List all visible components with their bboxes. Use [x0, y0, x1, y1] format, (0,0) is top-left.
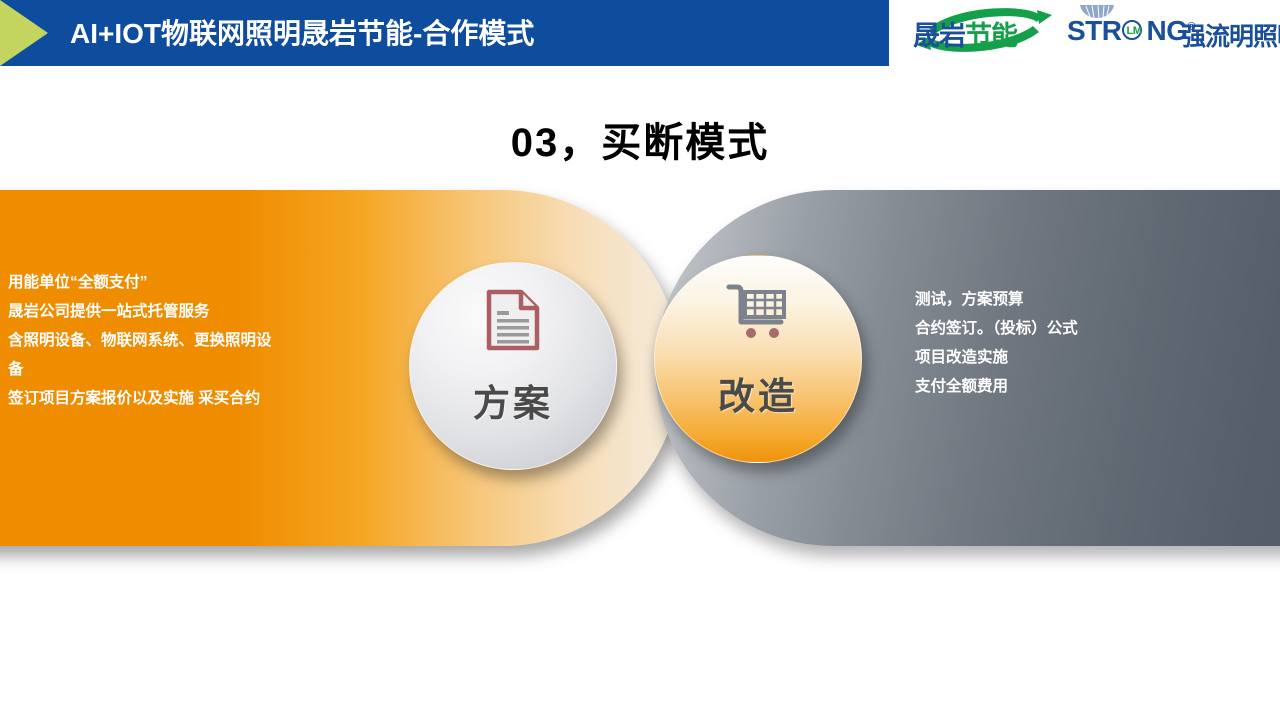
left-panel-text-block: 用能单位“全额支付” 晟岩公司提供一站式托管服务 含照明设备、物联网系统、更换照… — [8, 268, 348, 413]
brand-logo: 晟岩节能 STRLMNG® 强流明照明 — [886, 0, 1280, 66]
right-panel-text-block: 测试，方案预算 合约签订。（投标）公式 项目改造实施 支付全额费用 — [915, 285, 1255, 401]
plan-circle-label: 方案 — [410, 373, 616, 427]
left-panel-line: 签订项目方案报价以及实施 采买合约 — [8, 384, 348, 413]
document-icon — [485, 289, 541, 351]
logo-company-name: 晟岩节能 — [913, 14, 1017, 53]
logo-brand-text: STRLMNG® — [1067, 15, 1195, 47]
left-panel-line: 晟岩公司提供一站式托管服务 — [8, 297, 348, 326]
right-panel-line: 支付全额费用 — [915, 372, 1255, 401]
right-panel-line: 项目改造实施 — [915, 343, 1255, 372]
reform-circle-icon-wrap — [655, 282, 861, 347]
left-panel-line: 用能单位“全额支付” — [8, 268, 348, 297]
plan-circle[interactable]: 方案 — [409, 262, 617, 470]
page-title: 03，买断模式 — [0, 110, 1280, 168]
reform-circle[interactable]: 改造 — [654, 255, 862, 463]
logo-company-name-blue: 晟岩 — [913, 21, 965, 51]
logo-brand-part-1: STR — [1067, 15, 1122, 46]
left-panel-line: 备 — [8, 355, 348, 384]
plan-circle-icon-wrap — [410, 289, 616, 356]
left-panel-line: 含照明设备、物联网系统、更换照明设 — [8, 326, 348, 355]
header-title: AI+IOT物联网照明晟岩节能-合作模式 — [70, 12, 534, 52]
logo-company-name-green: 节能 — [965, 21, 1017, 51]
shopping-cart-icon — [726, 282, 790, 342]
slide-header: AI+IOT物联网照明晟岩节能-合作模式 晟岩节能 STRLMNG® 强流明照 — [0, 0, 1280, 66]
right-panel-line: 测试，方案预算 — [915, 285, 1255, 314]
logo-o-inner-text: LM — [1122, 20, 1147, 42]
reform-circle-label: 改造 — [655, 366, 861, 420]
right-panel-line: 合约签订。（投标）公式 — [915, 314, 1255, 343]
logo-o-circle-icon: LM — [1122, 19, 1147, 44]
logo-brand-chinese: 强流明照明 — [1181, 17, 1280, 53]
